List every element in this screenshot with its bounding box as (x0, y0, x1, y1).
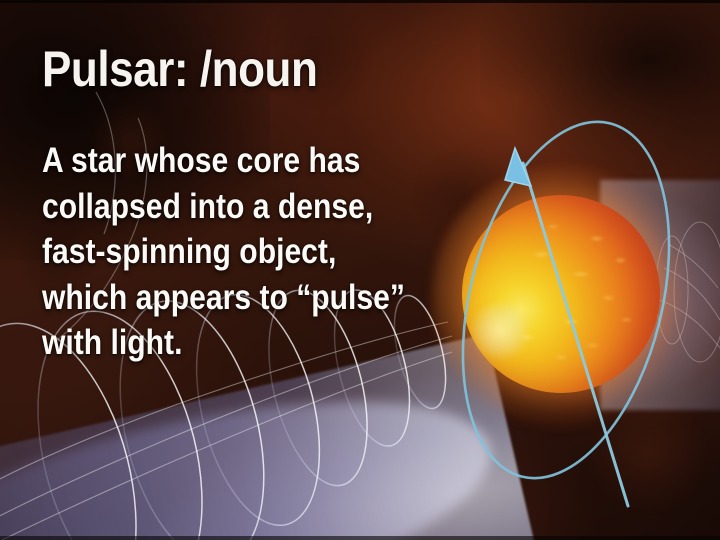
definition-text: A star whose core has collapsed into a d… (42, 138, 412, 366)
pulsar-graphic-canvas: Pulsar: /noun A star whose core has coll… (0, 0, 720, 540)
page-title: Pulsar: /noun (42, 44, 420, 94)
definition-line-4: which appears to “pulse” (42, 275, 412, 321)
top-edge-band (0, 0, 720, 3)
definition-line-2: collapsed into a dense, (42, 184, 412, 230)
text-block: Pulsar: /noun A star whose core has coll… (42, 44, 472, 366)
definition-line-3: fast-spinning object, (42, 229, 412, 275)
rotation-axis-arrow (505, 148, 628, 506)
bottom-edge-band (0, 536, 720, 540)
definition-line-5: with light. (42, 320, 412, 366)
definition-line-1: A star whose core has (42, 138, 412, 184)
